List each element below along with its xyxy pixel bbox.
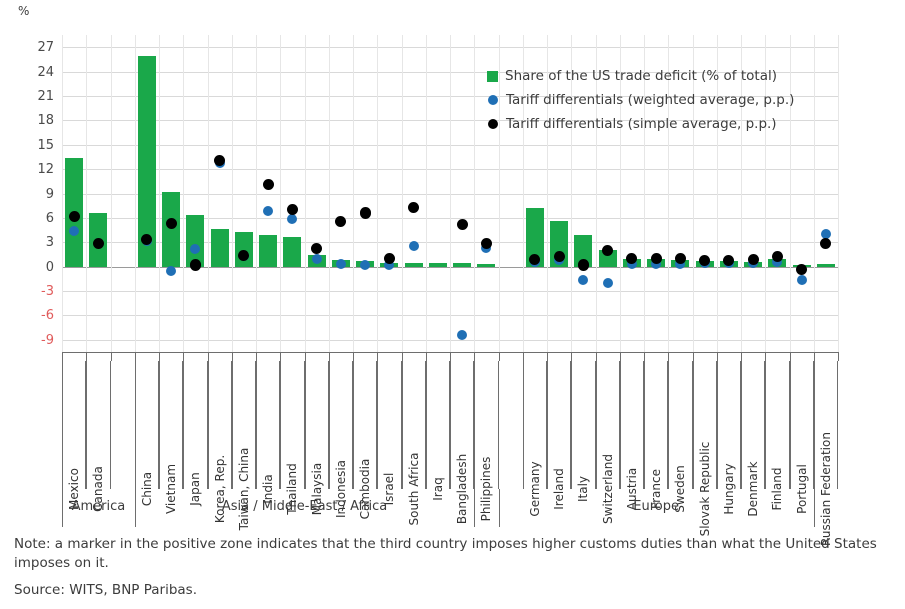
category-cell: Mexico (62, 361, 86, 489)
note-text: Note: a marker in the positive zone indi… (14, 535, 894, 573)
category-separator (498, 361, 499, 489)
vertical-gridline (377, 35, 378, 352)
y-axis-tick-label: 0 (0, 261, 54, 274)
x-axis-tick (402, 352, 403, 361)
category-cell: Germany (523, 361, 547, 489)
category-cell: Portugal (790, 361, 814, 489)
x-axis-tick (183, 352, 184, 361)
category-separator (571, 361, 572, 489)
category-cell: South Africa (402, 361, 426, 489)
category-separator (183, 361, 184, 489)
x-axis-tick (474, 352, 475, 361)
category-separator (837, 361, 838, 489)
x-axis-tick (353, 352, 354, 361)
y-axis-tick-label: 24 (0, 66, 54, 79)
vertical-gridline (329, 35, 330, 352)
marker-simple-france (651, 253, 662, 264)
category-cell: Denmark (741, 361, 765, 489)
y-axis-tick-label: -3 (0, 285, 54, 298)
marker-weighted-thailand (287, 214, 297, 224)
marker-weighted-bangladesh (457, 330, 467, 340)
category-cell: Vietnam (159, 361, 183, 489)
category-cell: Taiwan, China (232, 361, 256, 489)
x-axis-tick (547, 352, 548, 361)
category-separator (377, 361, 378, 489)
y-axis-tick-label: 18 (0, 114, 54, 127)
marker-simple-ireland (554, 251, 565, 262)
category-cell: Hungary (717, 361, 741, 489)
category-separator (256, 361, 257, 489)
x-axis-tick (765, 352, 766, 361)
x-axis-tick (499, 352, 500, 361)
legend-label-weighted: Tariff differentials (weighted average, … (506, 92, 794, 108)
vertical-gridline (305, 35, 306, 352)
legend-item-weighted: Tariff differentials (weighted average, … (487, 88, 794, 112)
marker-simple-mexico (69, 211, 80, 222)
marker-simple-finland (772, 251, 783, 262)
bar-russian-federation (817, 264, 835, 266)
x-axis-tick (377, 352, 378, 361)
marker-simple-bangladesh (457, 219, 468, 230)
y-axis-tick-label: 27 (0, 41, 54, 54)
marker-simple-thailand (287, 204, 298, 215)
x-axis-tick (523, 352, 524, 361)
marker-weighted-malaysia (312, 254, 322, 264)
marker-weighted-india (263, 206, 273, 216)
x-axis-tickmarks (62, 352, 838, 361)
vertical-gridline (208, 35, 209, 352)
x-axis-tick (280, 352, 281, 361)
marker-weighted-mexico (69, 226, 79, 236)
bar-korea-rep- (211, 229, 229, 267)
x-axis-tick (426, 352, 427, 361)
legend-circle-black-icon (488, 119, 498, 129)
group-separator (814, 489, 815, 527)
tariff-chart: % 2724211815129630-3-6-9 MexicoCanadaChi… (0, 0, 905, 609)
marker-simple-india (263, 179, 274, 190)
vertical-gridline (256, 35, 257, 352)
vertical-gridline (474, 35, 475, 352)
category-cell: Korea, Rep. (208, 361, 232, 489)
category-labels: MexicoCanadaChinaVietnamJapanKorea, Rep.… (62, 361, 838, 489)
bar-vietnam (162, 192, 180, 267)
category-cell: Malaysia (305, 361, 329, 489)
x-axis-tick (232, 352, 233, 361)
x-axis-tick (159, 352, 160, 361)
marker-simple-vietnam (166, 218, 177, 229)
bar-bangladesh (453, 263, 471, 266)
marker-weighted-portugal (797, 275, 807, 285)
y-axis-tick-label: 21 (0, 90, 54, 103)
x-axis-tick (668, 352, 669, 361)
category-cell: Italy (571, 361, 595, 489)
vertical-gridline (62, 35, 63, 352)
group-separator (474, 489, 475, 527)
group-bands: AmericaAsia / Middle-East / AfricaEurope (62, 489, 838, 527)
x-axis-tick (450, 352, 451, 361)
group-label-america: America (62, 499, 135, 514)
x-axis-tick (693, 352, 694, 361)
bar-south-africa (405, 263, 423, 267)
vertical-gridline (353, 35, 354, 352)
bar-philippines (477, 264, 495, 266)
x-axis-tick (838, 352, 839, 361)
marker-weighted-south-africa (409, 241, 419, 251)
category-cell: India (256, 361, 280, 489)
chart-legend: Share of the US trade deficit (% of tota… (487, 64, 794, 136)
legend-circle-blue-icon (488, 95, 498, 105)
vertical-gridline (426, 35, 427, 352)
axis-unit-label: % (18, 4, 29, 18)
marker-simple-denmark (748, 254, 759, 265)
category-cell: Japan (183, 361, 207, 489)
marker-simple-south-africa (408, 202, 419, 213)
x-axis-tick (814, 352, 815, 361)
marker-simple-japan (190, 259, 201, 270)
x-axis-tick (790, 352, 791, 361)
vertical-gridline (838, 35, 839, 352)
vertical-gridline (814, 35, 815, 352)
x-axis-tick (571, 352, 572, 361)
category-cell: Iraq (426, 361, 450, 489)
vertical-gridline (183, 35, 184, 352)
marker-simple-malaysia (311, 243, 322, 254)
category-separator (426, 361, 427, 489)
category-separator (135, 361, 136, 489)
category-cell: Austria (620, 361, 644, 489)
vertical-gridline (86, 35, 87, 352)
category-cell: Sweden (668, 361, 692, 489)
marker-simple-italy (578, 259, 589, 270)
legend-square-icon (487, 71, 498, 82)
y-axis-tick-label: 3 (0, 236, 54, 249)
category-cell: Switzerland (596, 361, 620, 489)
legend-item-bar: Share of the US trade deficit (% of tota… (487, 64, 794, 88)
x-axis-tick (305, 352, 306, 361)
category-cell: Israel (377, 361, 401, 489)
vertical-gridline (402, 35, 403, 352)
category-cell: Cambodia (353, 361, 377, 489)
x-axis-tick (208, 352, 209, 361)
category-separator (110, 361, 111, 489)
category-cell: Philippines (474, 361, 498, 489)
vertical-gridline (111, 35, 112, 352)
marker-weighted-switzerland (603, 278, 613, 288)
category-cell: Ireland (547, 361, 571, 489)
x-axis-tick (62, 352, 63, 361)
y-axis-tick-label: -6 (0, 309, 54, 322)
group-label-europe: Europe (499, 499, 814, 514)
chart-notes: Note: a marker in the positive zone indi… (14, 535, 894, 598)
x-axis-tick (741, 352, 742, 361)
marker-simple-portugal (796, 264, 807, 275)
vertical-gridline (159, 35, 160, 352)
y-axis-tick-label: 6 (0, 212, 54, 225)
marker-simple-cambodia (360, 207, 371, 218)
vertical-gridline (450, 35, 451, 352)
marker-simple-russian-federation (820, 238, 831, 249)
vertical-gridline (280, 35, 281, 352)
x-axis-tick (644, 352, 645, 361)
bar-thailand (283, 237, 301, 267)
x-axis-tick (111, 352, 112, 361)
marker-simple-korea-rep- (214, 155, 225, 166)
group-label-asia-middle-east-africa: Asia / Middle-East / Africa (135, 499, 475, 514)
category-cell: Slovak Republic (693, 361, 717, 489)
marker-weighted-indonesia (336, 259, 346, 269)
y-axis-tick-label: 9 (0, 188, 54, 201)
x-axis-tick (717, 352, 718, 361)
y-axis-tick-label: 12 (0, 163, 54, 176)
x-axis-tick (620, 352, 621, 361)
bar-iraq (429, 263, 447, 266)
category-cell: France (644, 361, 668, 489)
category-cell: Thailand (280, 361, 304, 489)
vertical-gridline (135, 35, 136, 352)
source-text: Source: WITS, BNP Paribas. (14, 582, 894, 598)
marker-simple-canada (93, 238, 104, 249)
x-axis-tick (329, 352, 330, 361)
marker-weighted-vietnam (166, 266, 176, 276)
marker-simple-israel (384, 253, 395, 264)
marker-simple-philippines (481, 238, 492, 249)
marker-simple-slovak-republic (699, 255, 710, 266)
category-cell: Indonesia (329, 361, 353, 489)
legend-item-simple: Tariff differentials (simple average, p.… (487, 112, 794, 136)
category-cell: Finland (765, 361, 789, 489)
category-cell: China (135, 361, 159, 489)
marker-weighted-cambodia (360, 260, 370, 270)
y-axis-tick-label: 15 (0, 139, 54, 152)
x-axis-tick (596, 352, 597, 361)
category-cell: Russian Federation (814, 361, 838, 489)
bar-india (259, 235, 277, 267)
category-cell: Canada (86, 361, 110, 489)
marker-weighted-italy (578, 275, 588, 285)
category-cell: Bangladesh (450, 361, 474, 489)
vertical-gridline (232, 35, 233, 352)
marker-simple-indonesia (335, 216, 346, 227)
x-axis-tick (135, 352, 136, 361)
marker-simple-sweden (675, 253, 686, 264)
x-axis-tick (86, 352, 87, 361)
legend-label-bar: Share of the US trade deficit (% of tota… (505, 68, 777, 84)
legend-label-simple: Tariff differentials (simple average, p.… (506, 116, 777, 132)
x-axis-tick (256, 352, 257, 361)
y-axis-tick-label: -9 (0, 334, 54, 347)
